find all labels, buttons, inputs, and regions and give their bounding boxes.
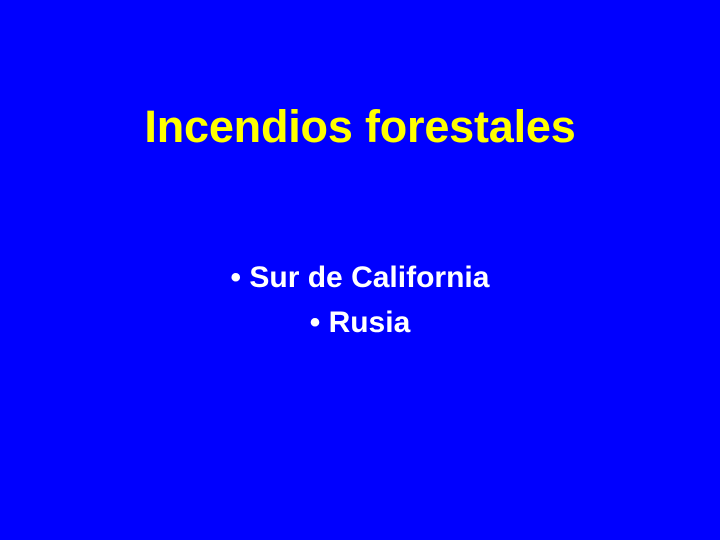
page-title: Incendios forestales	[0, 100, 720, 154]
bullet-dot-icon: •	[231, 261, 250, 294]
bullet-dot-icon: •	[310, 306, 329, 339]
slide-body-block: • Sur de California • Rusia	[0, 255, 720, 345]
list-item-label: Sur de California	[249, 261, 489, 294]
list-item: • Sur de California	[0, 255, 720, 300]
presentation-slide: Incendios forestales • Sur de California…	[0, 0, 720, 540]
list-item-label: Rusia	[329, 306, 411, 339]
slide-title-block: Incendios forestales	[0, 100, 720, 154]
list-item: • Rusia	[0, 300, 720, 345]
